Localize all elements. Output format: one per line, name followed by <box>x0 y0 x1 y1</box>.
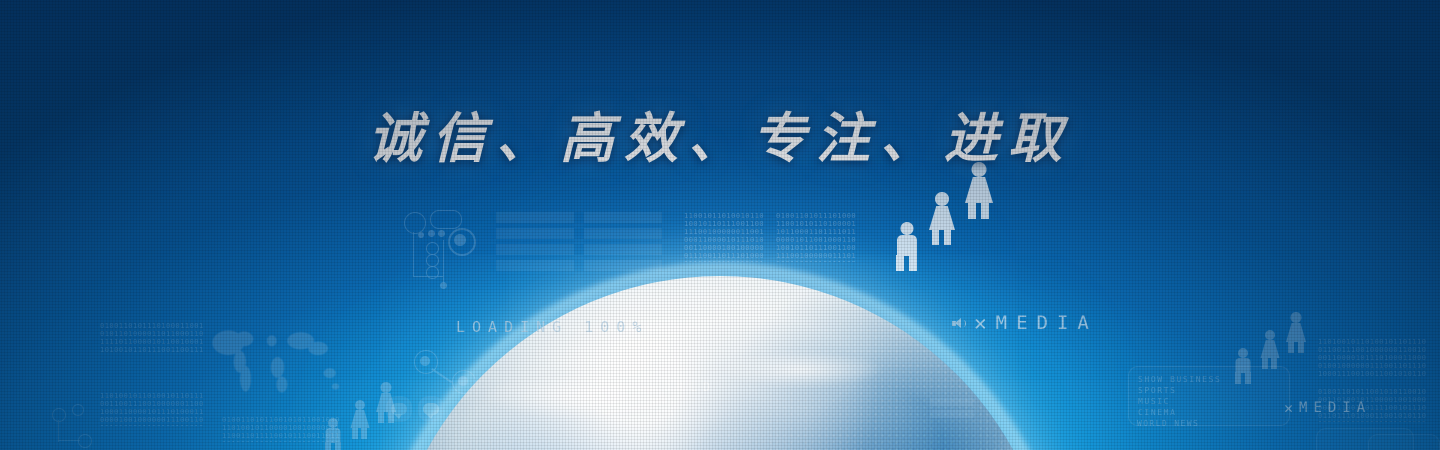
data-bar-block <box>930 398 974 418</box>
media-wordmark-bottom: ✕ MEDIA <box>1284 400 1371 416</box>
person-group-left <box>322 382 394 450</box>
panel-line-worldnews: WORLD NEWS <box>1137 418 1199 429</box>
chat-bubble-icon[interactable] <box>386 396 412 422</box>
node-link-line <box>58 440 80 441</box>
binary-data-block: 1100101101001011010010110111001100111001… <box>684 212 766 262</box>
media-wordmark: ✕ MEDIA <box>952 312 1098 334</box>
globe-caption-line: NEWS <box>650 396 675 407</box>
node-dot <box>428 230 435 237</box>
node-dot <box>454 234 466 246</box>
person-icon-female <box>1284 312 1308 352</box>
app-icon-group <box>386 396 450 436</box>
ui-card-placeholder[interactable] <box>1368 434 1440 450</box>
info-panel[interactable]: SHOW BUSINESS SPORTS MUSIC CINEMA <box>1128 366 1290 426</box>
panel-line: CINEMA <box>1129 407 1289 418</box>
node-dot <box>440 282 447 289</box>
media-label-bottom: MEDIA <box>1299 400 1371 416</box>
world-label: WORLD <box>650 380 716 394</box>
person-icon-female <box>1258 330 1282 368</box>
binary-data-block: 1101001011010010110111001100111001000000… <box>100 392 208 426</box>
page-title: 诚信、高效、专注、进取 <box>0 94 1440 173</box>
network-node-diagram <box>396 206 480 292</box>
media-label: MEDIA <box>996 312 1098 334</box>
person-group-center <box>888 162 998 268</box>
node-link-line <box>413 232 414 276</box>
data-bar-block <box>584 212 662 271</box>
globe-caption-line: DATA <box>650 408 675 419</box>
person-icon-female <box>926 192 958 244</box>
node-dot <box>438 230 445 237</box>
node-link-line <box>413 276 443 277</box>
person-icon-male <box>322 418 344 450</box>
node-ring-icon <box>78 434 92 448</box>
node-dot <box>418 232 424 238</box>
chat-bubble-icon[interactable] <box>418 396 444 422</box>
network-node-pair <box>412 348 478 396</box>
node-ring-icon <box>72 404 84 416</box>
binary-data-block: 1101001011010010110111001100111001000000… <box>1318 338 1428 378</box>
node-link-line <box>432 368 453 383</box>
loading-label: LOADING 100% <box>456 318 648 336</box>
panel-line: MUSIC <box>1129 396 1289 407</box>
node-link-line <box>58 420 59 442</box>
data-bar-block <box>496 212 574 271</box>
binary-data-block: 0100110101110100011001010110100001101100… <box>100 322 205 352</box>
close-x-icon: ✕ <box>974 313 987 334</box>
node-dot <box>420 356 430 366</box>
binary-data-block: 0100110101110100011001010110100001101100… <box>776 212 860 262</box>
close-x-icon: ✕ <box>1284 401 1293 416</box>
person-icon-female <box>348 400 372 438</box>
node-dot <box>458 376 468 386</box>
node-cluster-small <box>52 404 102 448</box>
wire-globe-icon <box>588 376 626 414</box>
hero-banner: 0100110101110100011001010110100001101100… <box>0 0 1440 450</box>
node-ring-icon <box>404 212 426 234</box>
speaker-icon <box>952 317 965 330</box>
panel-line: SHOW BUSINESS <box>1129 367 1289 385</box>
person-icon-male <box>892 222 922 270</box>
node-rounded-rect <box>430 210 462 229</box>
node-link-line <box>443 240 444 284</box>
panel-line: SPORTS <box>1129 385 1289 396</box>
